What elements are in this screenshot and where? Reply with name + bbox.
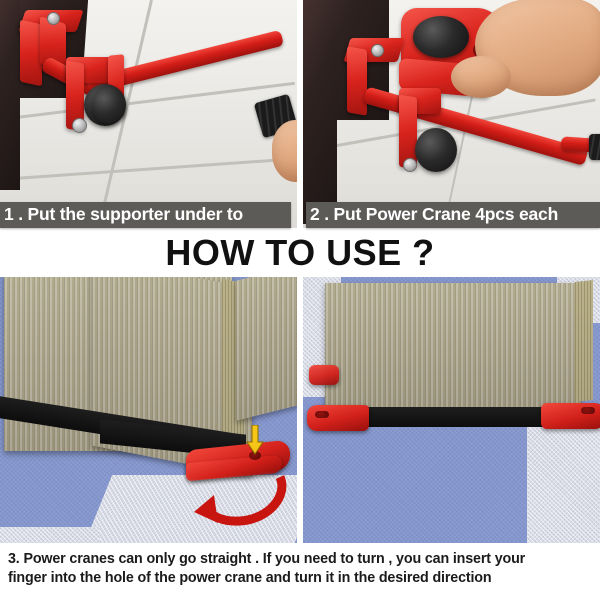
yellow-down-arrow-icon [246, 425, 264, 455]
power-crane-left [307, 405, 369, 431]
axle-bolt-icon [403, 158, 417, 172]
lever-bracket-arm [20, 20, 42, 87]
page-title-text: HOW TO USE ? [165, 235, 434, 271]
step-1-caption-text: 1 . Put the supporter under to [0, 206, 243, 224]
top-photo-row: 1 . Put the supporter under to 2 . Put P… [0, 0, 600, 228]
step-2-caption-text: 2 . Put Power Crane 4pcs each [306, 206, 558, 224]
furniture-cabinet-side [575, 280, 593, 402]
photo-divider-top [297, 0, 303, 228]
bottom-caption-line-2: finger into the hole of the power crane … [8, 569, 592, 588]
step-1-caption-bar: 1 . Put the supporter under to [0, 202, 291, 228]
handle-grip [589, 134, 600, 160]
carpet-white-tile [527, 413, 600, 543]
roller-wheel [415, 128, 457, 172]
bracket-bolt-icon [371, 44, 384, 57]
how-to-use-poster: 1 . Put the supporter under to 2 . Put P… [0, 0, 600, 600]
bracket-bolt-icon [47, 12, 60, 25]
furniture-cabinet-front [325, 283, 581, 411]
furniture-dark-edge [303, 0, 337, 224]
carpet-white-tile [0, 527, 100, 543]
power-crane-rear [309, 365, 339, 385]
thumb [451, 56, 511, 98]
step-2-caption-bar: 2 . Put Power Crane 4pcs each [306, 202, 600, 228]
step-2-photo [303, 0, 600, 228]
photo-divider-bottom [297, 277, 303, 543]
lever-bracket-arm [347, 46, 367, 116]
bottom-caption: 3. Power cranes can only go straight . I… [0, 546, 600, 600]
page-title: HOW TO USE ? [0, 230, 600, 276]
furniture-cabinet-right-panel [236, 277, 297, 421]
bottom-photo-row [0, 277, 600, 543]
furniture-dark-edge [0, 0, 20, 190]
crane-finger-hole [581, 407, 595, 414]
step-1-photo [0, 0, 297, 228]
crane-rubber-pad [413, 16, 469, 58]
bottom-caption-line-1: 3. Power cranes can only go straight . I… [8, 550, 592, 569]
axle-bolt-icon [72, 118, 87, 133]
red-rotation-arrow-icon [184, 473, 294, 535]
roller-wheel-inner [92, 86, 126, 124]
step-3-photo [0, 277, 297, 543]
crane-finger-hole [315, 411, 329, 418]
step-3-photo-alt [303, 277, 600, 543]
